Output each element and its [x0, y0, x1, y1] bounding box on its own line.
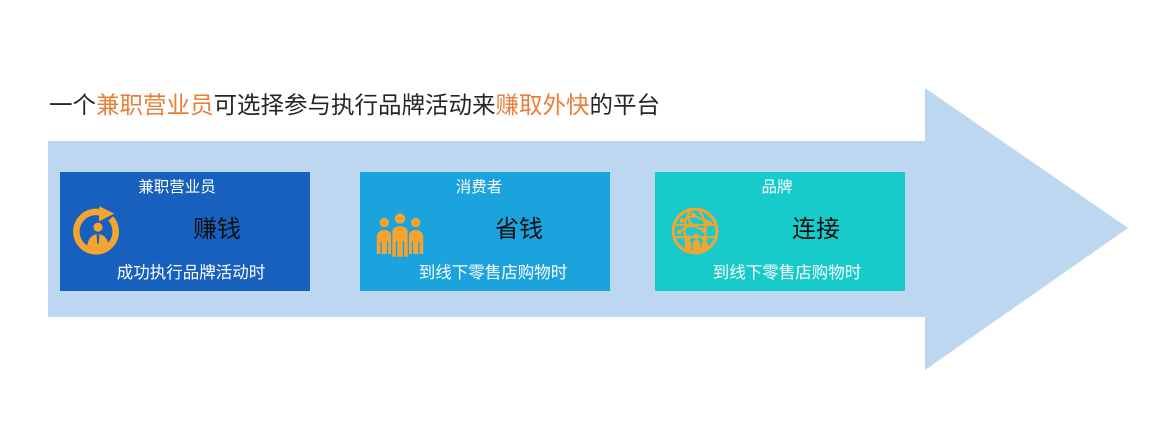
page-title: 一个兼职营业员可选择参与执行品牌活动来赚取外快的平台	[49, 88, 909, 122]
card-brand[interactable]: 品牌	[655, 172, 905, 291]
card-consumer[interactable]: 消费者 省钱 到线下零售店购物时	[360, 172, 610, 291]
card-value: 连接	[731, 210, 901, 248]
headline-segment-1-accent: 兼职营业员	[96, 91, 214, 119]
card-value: 省钱	[434, 210, 604, 248]
headline-segment-3-accent: 赚取外快	[496, 91, 590, 119]
card-caption: 到线下零售店购物时	[368, 262, 610, 284]
person-circular-arrow-icon	[70, 204, 126, 260]
headline-segment-0: 一个	[49, 91, 96, 119]
headline-segment-4: 的平台	[590, 91, 661, 119]
slide-canvas: 一个兼职营业员可选择参与执行品牌活动来赚取外快的平台 兼职营业员 赚钱 成功执行…	[0, 0, 1150, 430]
globe-network-people-icon	[667, 203, 723, 259]
card-value: 赚钱	[132, 210, 302, 248]
card-title: 品牌	[655, 177, 902, 197]
card-part-time-clerk[interactable]: 兼职营业员 赚钱 成功执行品牌活动时	[60, 172, 310, 291]
card-caption: 成功执行品牌活动时	[66, 262, 310, 284]
headline-segment-2: 可选择参与执行品牌活动来	[214, 91, 496, 119]
three-people-icon	[372, 205, 428, 261]
card-title: 消费者	[360, 177, 604, 197]
card-caption: 到线下零售店购物时	[662, 262, 905, 284]
card-title: 兼职营业员	[60, 177, 302, 197]
